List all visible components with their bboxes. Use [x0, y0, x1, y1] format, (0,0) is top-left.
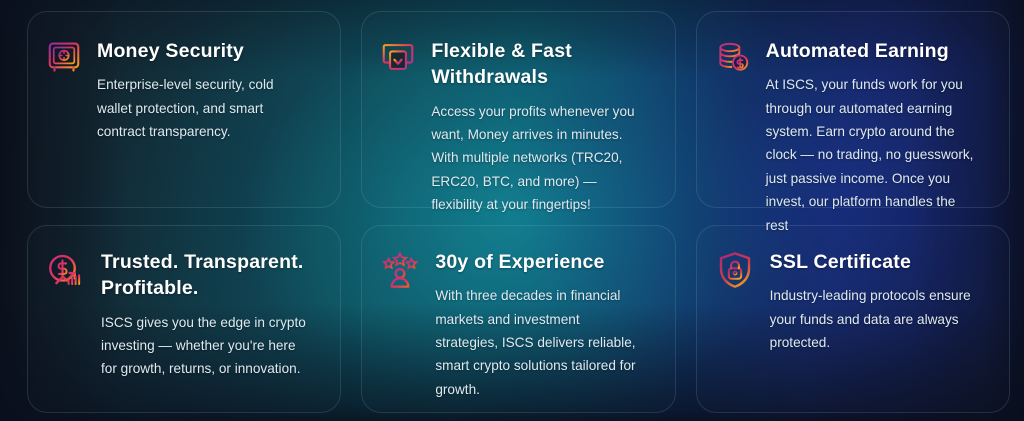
dollar-growth-chart-icon [45, 249, 87, 291]
card-title: 30y of Experience [435, 249, 644, 275]
atm-withdrawal-icon [379, 38, 417, 76]
card-body: 30y of Experience With three decades in … [435, 248, 644, 401]
card-title: Trusted. Transparent. Profitable. [101, 249, 310, 302]
card-description: Access your profits whenever you want, M… [431, 100, 644, 217]
card-body: Money Security Enterprise-level security… [97, 37, 310, 143]
card-title: SSL Certificate [770, 249, 979, 275]
card-body: Automated Earning At ISCS, your funds wo… [766, 37, 979, 237]
stacked-coins-icon [714, 38, 752, 76]
card-body: SSL Certificate Industry-leading protoco… [770, 248, 979, 354]
feature-card-money-security[interactable]: Money Security Enterprise-level security… [27, 11, 341, 208]
card-title: Money Security [97, 38, 310, 64]
card-body: Flexible & Fast Withdrawals Access your … [431, 37, 644, 217]
feature-card-trusted-transparent-profitable[interactable]: Trusted. Transparent. Profitable. ISCS g… [27, 225, 341, 413]
safe-vault-icon [45, 38, 83, 76]
card-description: Enterprise-level security, cold wallet p… [97, 73, 310, 143]
person-stars-icon [379, 249, 421, 291]
card-description: ISCS gives you the edge in crypto invest… [101, 311, 310, 381]
feature-card-automated-earning[interactable]: Automated Earning At ISCS, your funds wo… [696, 11, 1010, 208]
card-description: At ISCS, your funds work for you through… [766, 73, 979, 237]
feature-card-ssl-certificate[interactable]: SSL Certificate Industry-leading protoco… [696, 225, 1010, 413]
card-description: With three decades in financial markets … [435, 284, 644, 401]
card-title: Flexible & Fast Withdrawals [431, 38, 644, 91]
card-body: Trusted. Transparent. Profitable. ISCS g… [101, 248, 310, 381]
feature-card-flexible-fast-withdrawals[interactable]: Flexible & Fast Withdrawals Access your … [361, 11, 675, 208]
card-title: Automated Earning [766, 38, 979, 64]
feature-card-30y-experience[interactable]: 30y of Experience With three decades in … [361, 225, 675, 413]
shield-lock-icon [714, 249, 756, 291]
features-grid: Money Security Enterprise-level security… [0, 0, 1024, 421]
card-description: Industry-leading protocols ensure your f… [770, 284, 979, 354]
